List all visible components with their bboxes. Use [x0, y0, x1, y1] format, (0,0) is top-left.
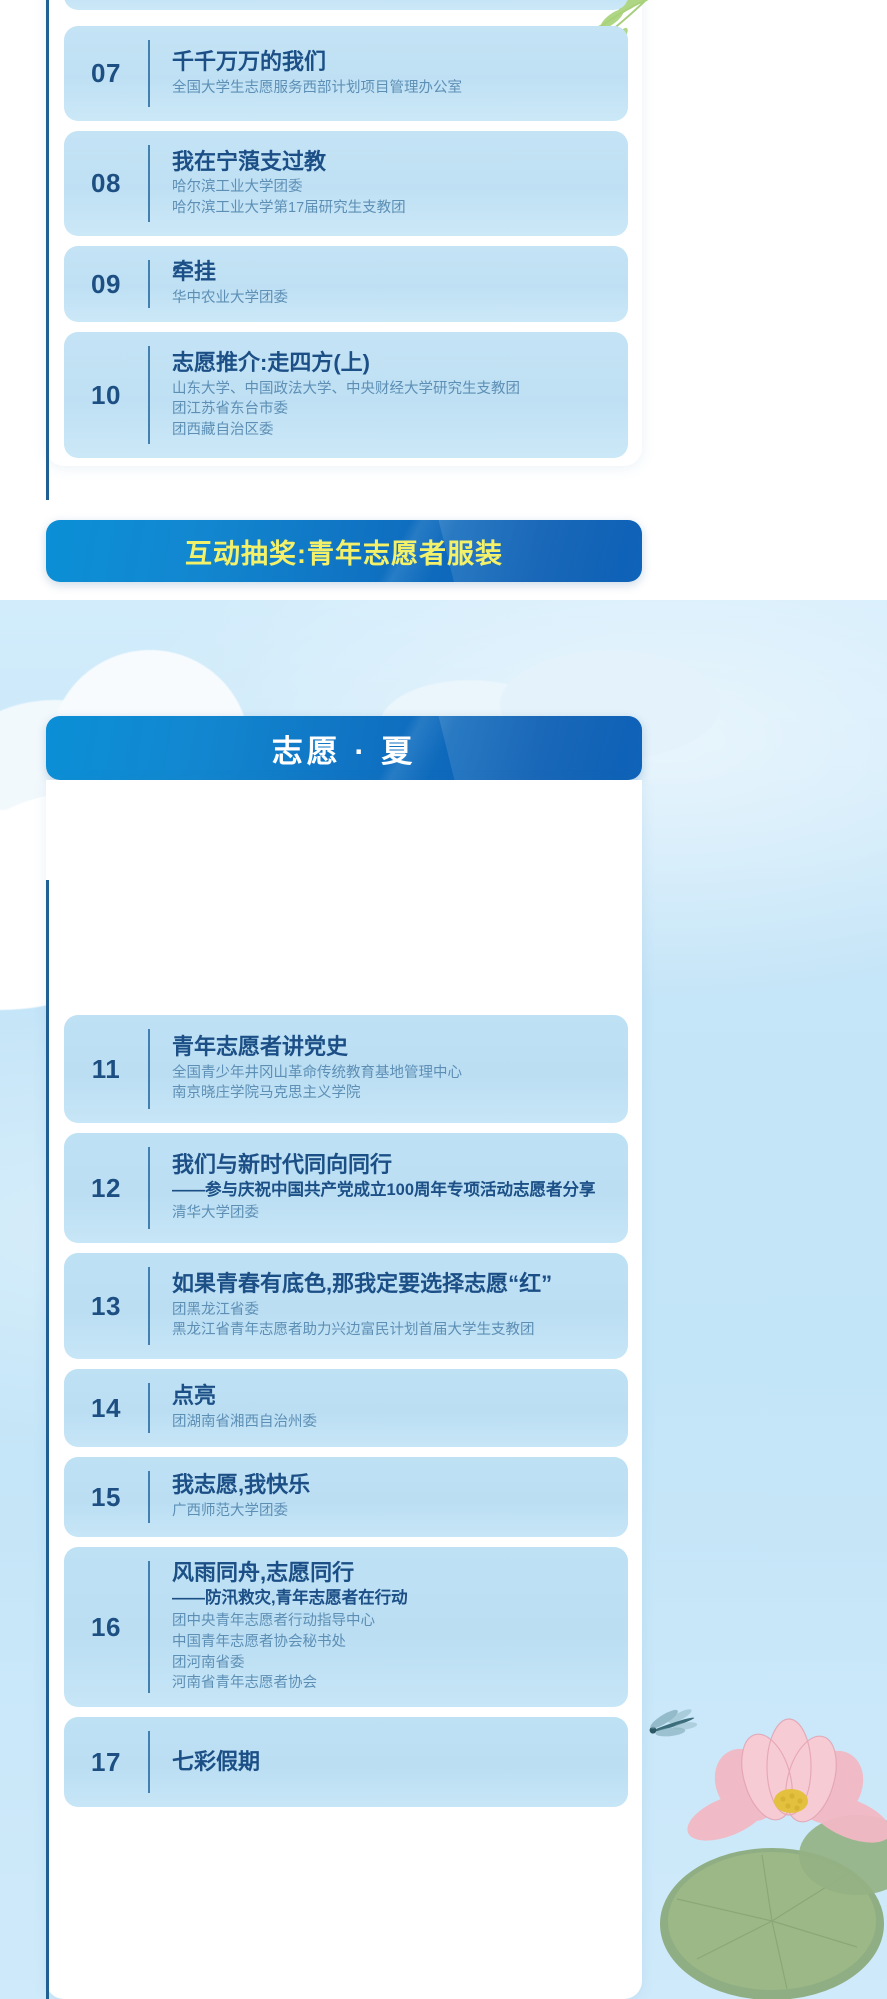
row-divider: [148, 1561, 150, 1693]
row-org: 哈尔滨工业大学团委: [172, 177, 616, 198]
row-org: 全国青少年井冈山革命传统教育基地管理中心: [172, 1063, 616, 1084]
list-item-13[interactable]: 13 如果青春有底色,那我定要选择志愿“红” 团黑龙江省委 黑龙江省青年志愿者助…: [64, 1253, 628, 1359]
row-body: 志愿推介:走四方(上) 山东大学、中国政法大学、中央财经大学研究生支教团 团江苏…: [150, 340, 628, 451]
row-title: 点亮: [172, 1383, 616, 1410]
list-item-11[interactable]: 11 青年志愿者讲党史 全国青少年井冈山革命传统教育基地管理中心 南京晓庄学院马…: [64, 1015, 628, 1123]
row-org: 团中央青年志愿者行动指导中心: [172, 1611, 616, 1632]
row-divider: [148, 1267, 150, 1345]
row-org: 团湖南省湘西自治州委: [172, 1412, 616, 1433]
row-title: 志愿推介:走四方(上): [172, 350, 616, 377]
row-org: 清华大学团委: [172, 1203, 616, 1224]
row-number: 09: [64, 269, 148, 300]
row-divider: [148, 260, 150, 308]
season-header-banner: 志愿 · 夏: [46, 716, 642, 780]
row-divider: [148, 1731, 150, 1793]
row-title: 千千万万的我们: [172, 49, 616, 76]
row-body: 如果青春有底色,那我定要选择志愿“红” 团黑龙江省委 黑龙江省青年志愿者助力兴边…: [150, 1261, 628, 1351]
row-org: 广西师范大学团委: [172, 1501, 616, 1522]
list-item-15[interactable]: 15 我志愿,我快乐 广西师范大学团委: [64, 1457, 628, 1537]
row-orgs: 华中农业大学团委: [172, 288, 616, 309]
row-body: 我们与新时代同向同行 ——参与庆祝中国共产党成立100周年专项活动志愿者分享 清…: [150, 1142, 628, 1234]
row-body: 点亮 团湖南省湘西自治州委: [150, 1373, 628, 1442]
row-body: 风雨同舟,志愿同行 ——防汛救灾,青年志愿者在行动 团中央青年志愿者行动指导中心…: [150, 1550, 628, 1704]
row-org: 团江苏省东台市委: [172, 399, 616, 420]
row-org: 黑龙江省青年志愿者助力兴边富民计划首届大学生支教团: [172, 1320, 616, 1341]
row-orgs: 广西师范大学团委: [172, 1501, 616, 1522]
row-orgs: 哈尔滨工业大学团委 哈尔滨工业大学第17届研究生支教团: [172, 177, 616, 218]
row-title: 青年志愿者讲党史: [172, 1034, 616, 1061]
row-orgs: 全国青少年井冈山革命传统教育基地管理中心 南京晓庄学院马克思主义学院: [172, 1063, 616, 1104]
row-title: 如果青春有底色,那我定要选择志愿“红”: [172, 1271, 616, 1298]
row-org: 中国青年志愿者协会秘书处: [172, 1632, 616, 1653]
row-org: 南京晓庄学院马克思主义学院: [172, 1083, 616, 1104]
row-divider: [148, 1383, 150, 1433]
row-divider: [148, 1471, 150, 1523]
row-org: 团西藏自治区委: [172, 420, 616, 441]
row-title: 我们与新时代同向同行: [172, 1152, 616, 1179]
row-org: 山东大学、中国政法大学、中央财经大学研究生支教团: [172, 379, 616, 400]
row-org: 团黑龙江省委: [172, 1300, 616, 1321]
list-item[interactable]: 中国大学生在线: [64, 0, 628, 10]
list-item-10[interactable]: 10 志愿推介:走四方(上) 山东大学、中国政法大学、中央财经大学研究生支教团 …: [64, 332, 628, 458]
list-item-09[interactable]: 09 牵挂 华中农业大学团委: [64, 246, 628, 322]
row-body: 牵挂 华中农业大学团委: [150, 249, 628, 318]
poster-page: 中国大学生在线 07 千千万万的我们 全国大学生志愿服务西部计划项目管理办公室 …: [0, 0, 887, 1999]
row-subtitle: ——防汛救灾,青年志愿者在行动: [172, 1588, 616, 1609]
row-body: 千千万万的我们 全国大学生志愿服务西部计划项目管理办公室: [150, 39, 628, 108]
row-number: 13: [64, 1291, 148, 1322]
row-orgs: 团中央青年志愿者行动指导中心 中国青年志愿者协会秘书处 团河南省委 河南省青年志…: [172, 1611, 616, 1693]
row-org: 全国大学生志愿服务西部计划项目管理办公室: [172, 78, 616, 99]
row-subtitle: ——参与庆祝中国共产党成立100周年专项活动志愿者分享: [172, 1180, 616, 1201]
row-number: 12: [64, 1173, 148, 1204]
list-item-07[interactable]: 07 千千万万的我们 全国大学生志愿服务西部计划项目管理办公室: [64, 26, 628, 121]
lottery-banner-label: 互动抽奖:青年志愿者服装: [185, 532, 503, 571]
row-body: 我在宁蒗支过教 哈尔滨工业大学团委 哈尔滨工业大学第17届研究生支教团: [150, 139, 628, 229]
row-title: 我志愿,我快乐: [172, 1472, 616, 1499]
panel-accent-rail-bottom: [46, 880, 49, 1999]
row-divider: [148, 145, 150, 222]
row-orgs: 团黑龙江省委 黑龙江省青年志愿者助力兴边富民计划首届大学生支教团: [172, 1300, 616, 1341]
row-org: 华中农业大学团委: [172, 288, 616, 309]
row-title: 风雨同舟,志愿同行: [172, 1560, 616, 1587]
row-divider: [148, 40, 150, 107]
row-number: 07: [64, 58, 148, 89]
row-org: 河南省青年志愿者协会: [172, 1673, 616, 1694]
panel-accent-rail-top: [46, 0, 49, 500]
list-item-08[interactable]: 08 我在宁蒗支过教 哈尔滨工业大学团委 哈尔滨工业大学第17届研究生支教团: [64, 131, 628, 236]
row-orgs: 全国大学生志愿服务西部计划项目管理办公室: [172, 78, 616, 99]
row-number: 11: [64, 1054, 148, 1085]
row-number: 16: [64, 1612, 148, 1643]
row-number: 08: [64, 168, 148, 199]
row-orgs: 山东大学、中国政法大学、中央财经大学研究生支教团 团江苏省东台市委 团西藏自治区…: [172, 379, 616, 441]
row-divider: [148, 1147, 150, 1229]
row-org: 团河南省委: [172, 1653, 616, 1674]
row-body: 七彩假期: [150, 1739, 628, 1786]
row-orgs: 清华大学团委: [172, 1203, 616, 1224]
row-title: 牵挂: [172, 259, 616, 286]
row-divider: [148, 1029, 150, 1109]
list-item-17[interactable]: 17 七彩假期: [64, 1717, 628, 1807]
row-orgs: 团湖南省湘西自治州委: [172, 1412, 616, 1433]
lottery-banner[interactable]: 互动抽奖:青年志愿者服装: [46, 520, 642, 582]
row-body: 我志愿,我快乐 广西师范大学团委: [150, 1462, 628, 1531]
row-number: 17: [64, 1747, 148, 1778]
list-item-16[interactable]: 16 风雨同舟,志愿同行 ——防汛救灾,青年志愿者在行动 团中央青年志愿者行动指…: [64, 1547, 628, 1707]
row-number: 15: [64, 1482, 148, 1513]
row-title: 我在宁蒗支过教: [172, 149, 616, 176]
row-body: 青年志愿者讲党史 全国青少年井冈山革命传统教育基地管理中心 南京晓庄学院马克思主…: [150, 1024, 628, 1114]
list-item-12[interactable]: 12 我们与新时代同向同行 ——参与庆祝中国共产党成立100周年专项活动志愿者分…: [64, 1133, 628, 1243]
row-number: 14: [64, 1393, 148, 1424]
season-header-label: 志愿 · 夏: [272, 726, 417, 771]
row-body: 中国大学生在线: [150, 0, 628, 7]
row-divider: [148, 346, 150, 444]
list-item-14[interactable]: 14 点亮 团湖南省湘西自治州委: [64, 1369, 628, 1447]
row-title: 七彩假期: [172, 1749, 616, 1776]
row-number: 10: [64, 380, 148, 411]
row-org: 哈尔滨工业大学第17届研究生支教团: [172, 198, 616, 219]
